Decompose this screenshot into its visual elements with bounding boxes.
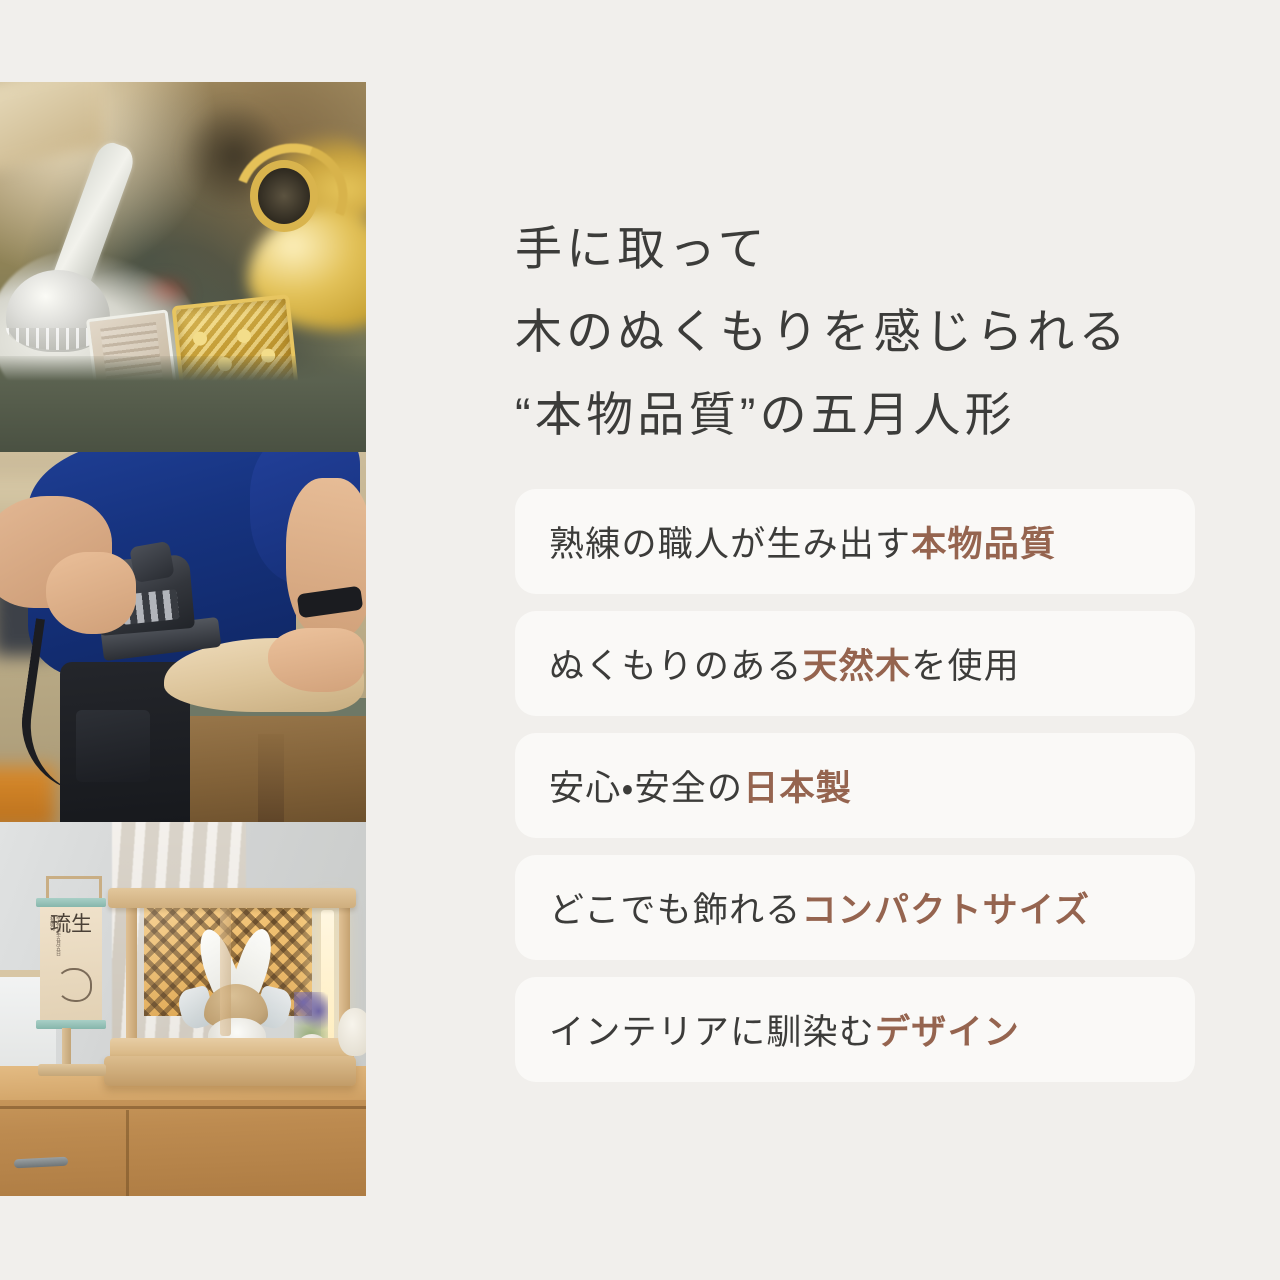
photo-column: 琉生 令和七年五月五日 初節句 (0, 82, 366, 1196)
feature-highlight-4: コンパクトサイズ (802, 891, 1091, 930)
headline-line-2: 木のぬくもりを感じられる (515, 290, 1205, 373)
scroll-stand-post (62, 1028, 71, 1068)
kabuto-display-case (108, 888, 356, 1084)
headline-line-3: “本物品質”の五月人形 (515, 373, 1205, 456)
feature-prefix-3: 安心・安全の (549, 769, 743, 808)
chest-drawer-divider (126, 1110, 129, 1196)
scroll-bottom-bar (36, 1020, 106, 1029)
case-roof-beam (108, 888, 356, 908)
feature-card-1[interactable]: 熟練の職人が生み出す本物品質 (515, 489, 1195, 594)
feature-text-3: 安心・安全の日本製 (549, 760, 852, 811)
case-middle-post (220, 908, 231, 1036)
snake-illustration (56, 968, 92, 1002)
sander-grip (129, 541, 175, 583)
rabbit-ornament (338, 1008, 366, 1056)
promo-page: 琉生 令和七年五月五日 初節句 手に取って 木のぬくもりを感じられる “本物品質… (0, 0, 1280, 1280)
content-column: 手に取って 木のぬくもりを感じられる “本物品質”の五月人形 熟練の職人が生み出… (515, 0, 1205, 1280)
feature-card-2[interactable]: ぬくもりのある天然木を使用 (515, 611, 1195, 716)
feature-prefix-5: インテリアに馴染む (549, 1013, 875, 1052)
feature-suffix-2: を使用 (911, 647, 1020, 686)
feature-text-5: インテリアに馴染むデザイン (549, 1004, 1020, 1055)
case-base-plinth (104, 1056, 356, 1086)
case-left-post (126, 900, 137, 1052)
feature-list: 熟練の職人が生み出す本物品質 ぬくもりのある天然木を使用 安心・安全の日本製 ど… (515, 489, 1195, 1082)
photo-craftsman-sanding (0, 452, 366, 822)
feature-card-3[interactable]: 安心・安全の日本製 (515, 733, 1195, 838)
gold-ring-crest (250, 160, 318, 232)
name-scroll: 琉生 令和七年五月五日 初節句 (40, 878, 102, 1038)
scroll-stand-foot (38, 1064, 106, 1076)
chest-drawer-seam (0, 1106, 366, 1109)
feature-highlight-5: デザイン (875, 1013, 1020, 1052)
feature-card-4[interactable]: どこでも飾れるコンパクトサイズ (515, 855, 1195, 960)
case-glass-panel (128, 904, 340, 1048)
photo-2-foreground (0, 452, 366, 822)
feature-text-2: ぬくもりのある天然木を使用 (549, 638, 1020, 689)
feature-prefix-1: 熟練の職人が生み出す (549, 525, 911, 564)
photo-display-case: 琉生 令和七年五月五日 初節句 (0, 822, 366, 1196)
craftsman-right-hand (268, 628, 364, 692)
feature-text-4: どこでも飾れるコンパクトサイズ (549, 882, 1090, 933)
feature-prefix-2: ぬくもりのある (549, 647, 803, 686)
feature-prefix-4: どこでも飾れる (549, 891, 802, 930)
scroll-top-bar (36, 898, 106, 907)
feature-highlight-3: 日本製 (743, 769, 852, 808)
workbench-leg (258, 734, 284, 822)
page-headline: 手に取って 木のぬくもりを感じられる “本物品質”の五月人形 (515, 207, 1205, 456)
feature-highlight-1: 本物品質 (911, 525, 1056, 564)
headline-line-1: 手に取って (515, 207, 1205, 290)
feature-card-5[interactable]: インテリアに馴染むデザイン (515, 977, 1195, 1082)
feature-highlight-2: 天然木 (803, 647, 912, 686)
photo-armor-parts (0, 82, 366, 452)
photo-1-foreground (0, 82, 366, 452)
feature-text-1: 熟練の職人が生み出す本物品質 (549, 516, 1056, 567)
workbench-surface (0, 356, 366, 452)
scroll-subtext: 令和七年五月五日 初節句 (49, 916, 61, 960)
